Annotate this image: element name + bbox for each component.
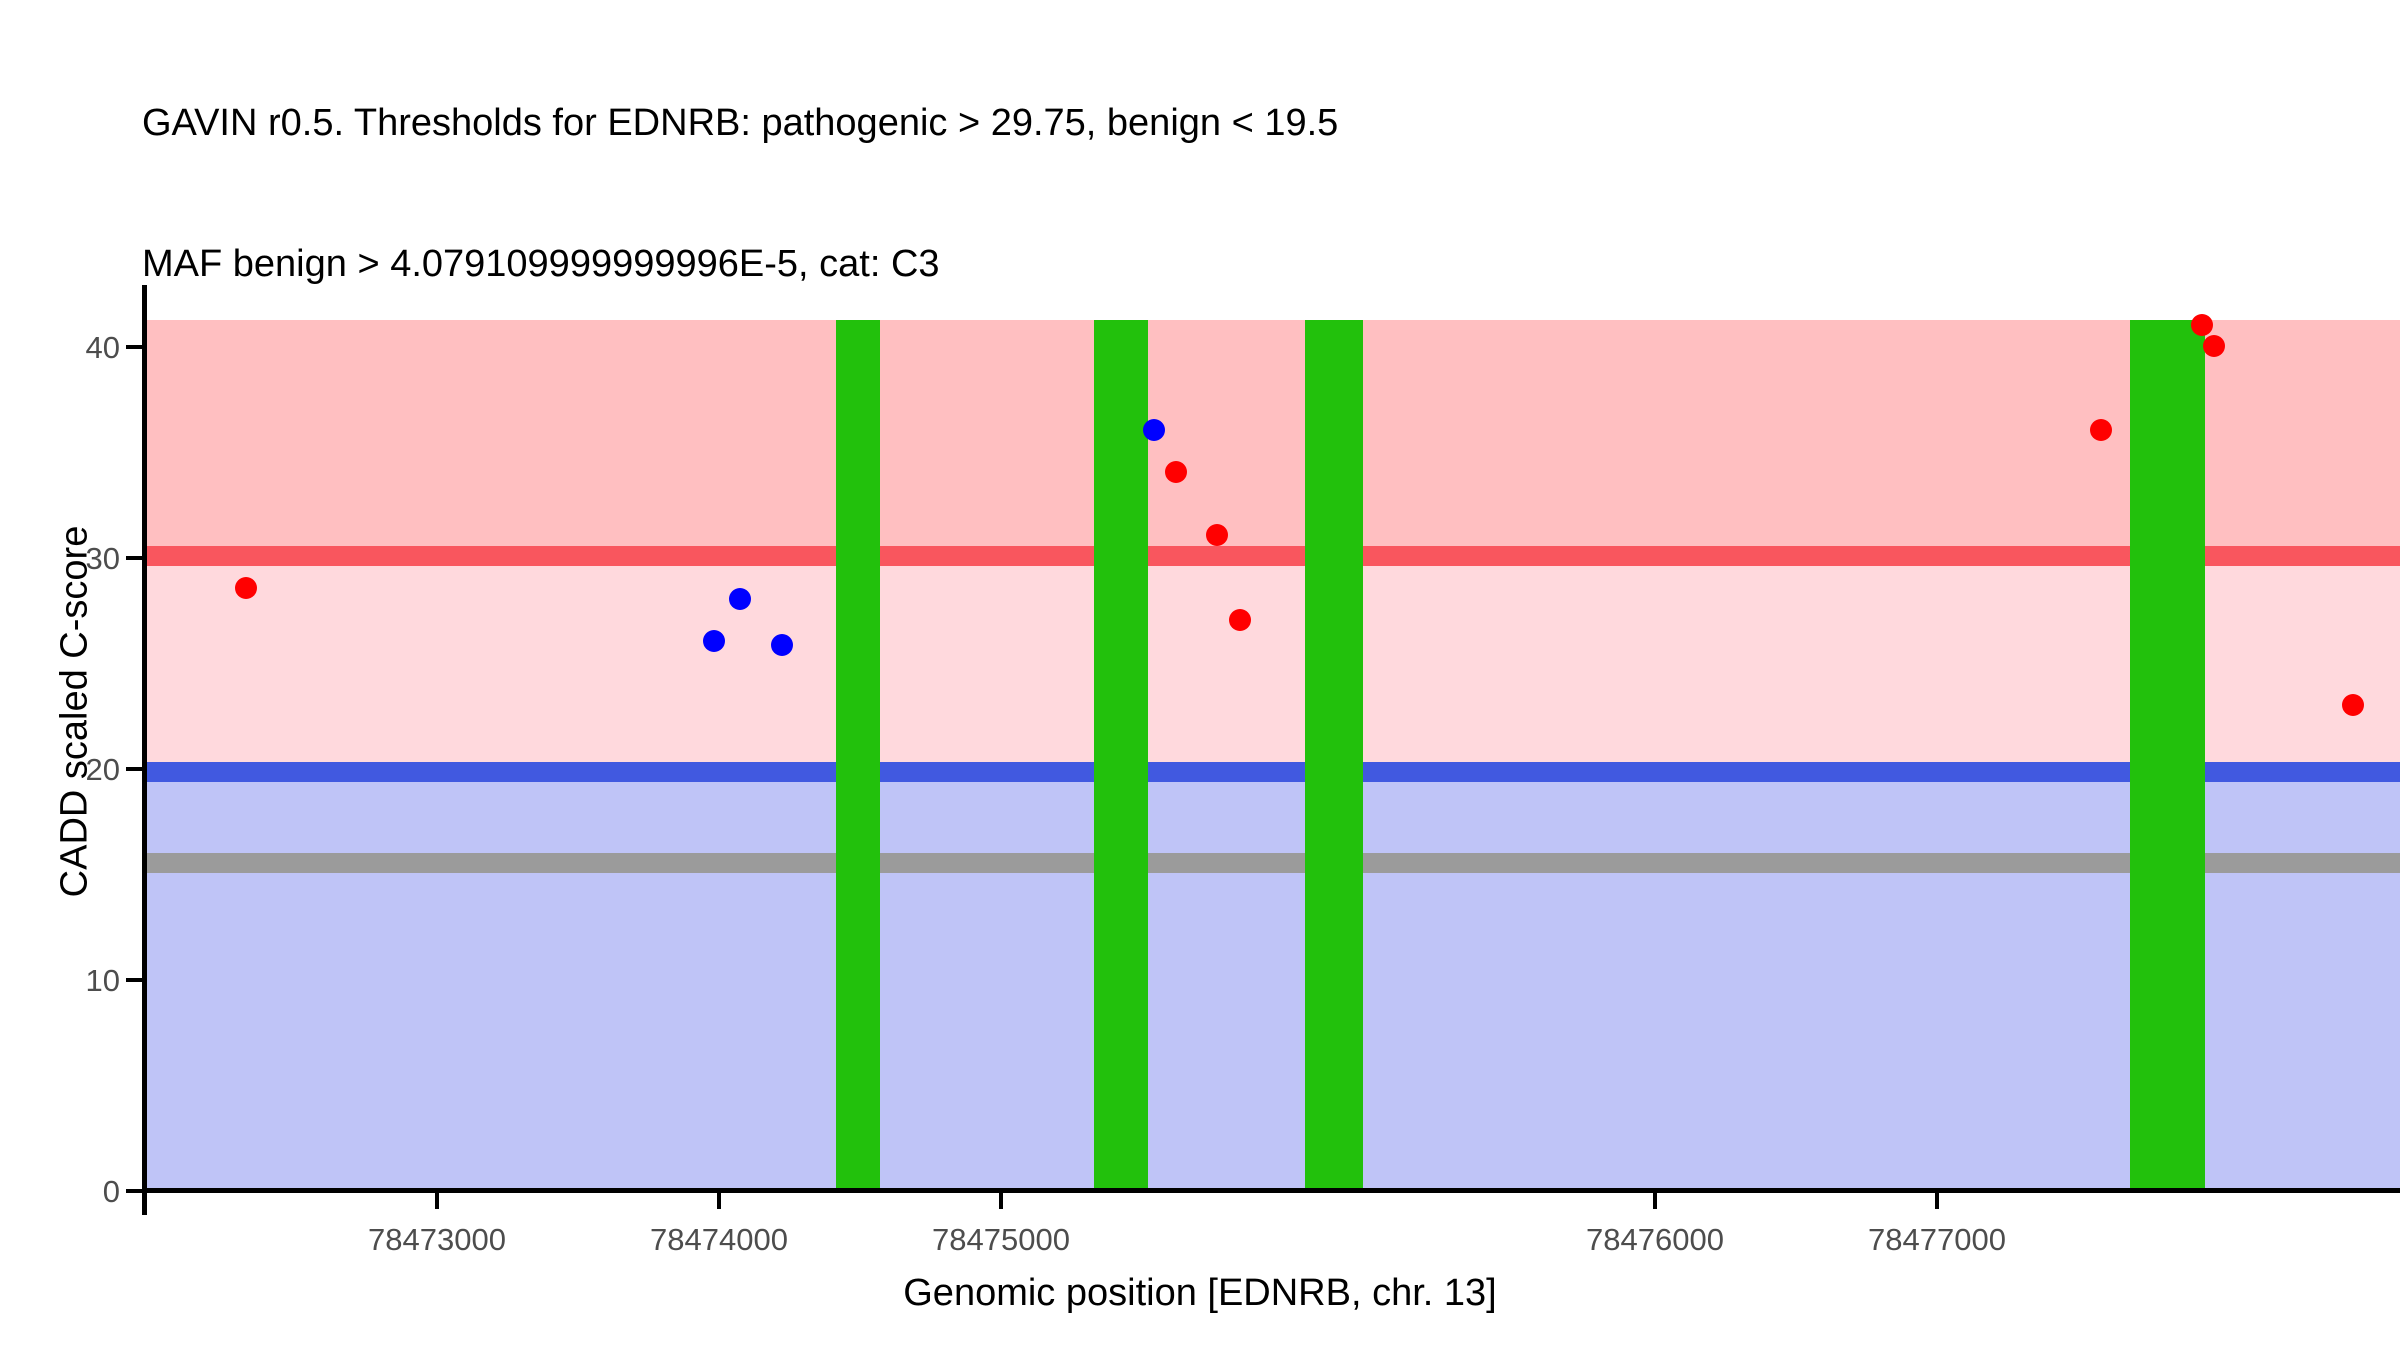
x-tick-mark (999, 1193, 1003, 1209)
title-line-1: GAVIN r0.5. Thresholds for EDNRB: pathog… (142, 100, 2292, 147)
gnomad-variant-point (703, 630, 725, 652)
band-vus (142, 562, 2400, 778)
x-axis-label: Genomic position [EDNRB, chr. 13] (0, 1272, 2400, 1315)
x-tick-mark (1653, 1193, 1657, 1209)
band-pathogenic (142, 320, 2400, 562)
y-axis-label: CADD scaled C-score (54, 282, 97, 1142)
gnomad-variant-point (1143, 419, 1165, 441)
threshold-line-fallback (142, 853, 2400, 873)
y-tick-mark (126, 978, 142, 982)
y-tick-label: 0 (0, 1174, 120, 1210)
x-tick-label: 78473000 (307, 1222, 567, 1258)
y-tick-mark (126, 345, 142, 349)
x-tick-label: 78476000 (1525, 1222, 1785, 1258)
band-benign (142, 778, 2400, 1190)
exon-bar (1094, 320, 1148, 1190)
clinvar-variant-point (1165, 461, 1187, 483)
gnomad-variant-point (729, 588, 751, 610)
threshold-line-benign (142, 762, 2400, 782)
clinvar-variant-point (1206, 524, 1228, 546)
threshold-line-pathogenic (142, 546, 2400, 566)
y-tick-mark (126, 1189, 142, 1193)
clinvar-variant-point (2342, 694, 2364, 716)
y-tick-mark (126, 767, 142, 771)
clinvar-variant-point (235, 577, 257, 599)
x-tick-label: 78474000 (589, 1222, 849, 1258)
clinvar-variant-point (2203, 335, 2225, 357)
title-line-2: MAF benign > 4.079109999999996E-5, cat: … (142, 241, 2292, 288)
x-tick-mark (435, 1193, 439, 1209)
x-tick-mark (1935, 1193, 1939, 1209)
y-tick-mark (126, 556, 142, 560)
x-tick-label: 78475000 (871, 1222, 1131, 1258)
clinvar-variant-point (2191, 314, 2213, 336)
x-axis-line (142, 1188, 2400, 1193)
exon-bar (1305, 320, 1363, 1190)
exon-bar (2130, 320, 2205, 1190)
clinvar-variant-point (1229, 609, 1251, 631)
clinvar-variant-point (2090, 419, 2112, 441)
plot-panel (142, 285, 2400, 1190)
exon-bar (836, 320, 880, 1190)
x-tick-mark (717, 1193, 721, 1209)
y-axis-line (142, 285, 147, 1215)
x-tick-label: 78477000 (1807, 1222, 2067, 1258)
gnomad-variant-point (771, 634, 793, 656)
chart-canvas: GAVIN r0.5. Thresholds for EDNRB: pathog… (0, 0, 2400, 1350)
